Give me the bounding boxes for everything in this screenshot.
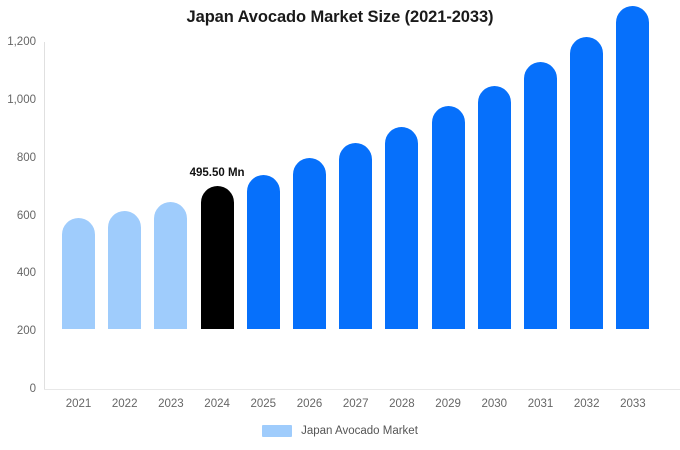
x-axis-tick-2022: 2022 xyxy=(108,398,141,410)
y-axis-tick-600: 600 xyxy=(0,210,36,222)
x-axis-tick-2027: 2027 xyxy=(339,398,372,410)
bar-rect-2033[interactable]: 1116.91 Mn xyxy=(616,6,649,329)
x-axis-tick-2031: 2031 xyxy=(524,398,557,410)
bar-rect-2032[interactable] xyxy=(570,37,603,329)
x-axis-tick-2033: 2033 xyxy=(616,398,649,410)
x-axis-tick-2030: 2030 xyxy=(478,398,511,410)
x-axis-tick-2021: 2021 xyxy=(62,398,95,410)
chart-legend: Japan Avocado Market xyxy=(0,425,680,437)
legend-label-japan-avocado-market: Japan Avocado Market xyxy=(301,425,418,437)
x-axis-tick-2023: 2023 xyxy=(154,398,187,410)
x-axis-tick-2032: 2032 xyxy=(570,398,603,410)
y-axis-tick-1200: 1,200 xyxy=(0,36,36,48)
bar-rect-2026[interactable] xyxy=(293,158,326,329)
bar-rect-2027[interactable] xyxy=(339,143,372,329)
bar-rect-2025[interactable] xyxy=(247,175,280,329)
bar-rect-2024[interactable]: 495.50 Mn xyxy=(201,186,234,329)
bar-rect-2028[interactable] xyxy=(385,127,418,329)
y-axis-tick-labels: 02004006008001,0001,200 xyxy=(0,0,36,450)
bar-rect-2021[interactable] xyxy=(62,218,95,329)
bar-rect-2023[interactable] xyxy=(154,202,187,329)
chart-container: Japan Avocado Market Size (2021-2033) 02… xyxy=(0,0,680,450)
y-axis-tick-1000: 1,000 xyxy=(0,94,36,106)
bar-value-label-2024: 495.50 Mn xyxy=(190,167,245,179)
y-axis-tick-0: 0 xyxy=(0,383,36,395)
legend-swatch-japan-avocado-market xyxy=(262,425,292,437)
y-axis-tick-800: 800 xyxy=(0,152,36,164)
x-axis-tick-2026: 2026 xyxy=(293,398,326,410)
x-axis-tick-2024: 2024 xyxy=(201,398,234,410)
y-axis-line xyxy=(44,42,45,390)
y-axis-tick-200: 200 xyxy=(0,325,36,337)
bar-rect-2029[interactable] xyxy=(432,106,465,329)
x-axis-tick-2029: 2029 xyxy=(432,398,465,410)
x-axis-tick-2028: 2028 xyxy=(385,398,418,410)
bar-series: 495.50 Mn1116.91 Mn xyxy=(46,0,680,390)
x-axis-tick-2025: 2025 xyxy=(247,398,280,410)
bar-rect-2031[interactable] xyxy=(524,62,557,329)
bar-rect-2030[interactable] xyxy=(478,86,511,329)
y-axis-tick-400: 400 xyxy=(0,267,36,279)
bar-rect-2022[interactable] xyxy=(108,211,141,329)
